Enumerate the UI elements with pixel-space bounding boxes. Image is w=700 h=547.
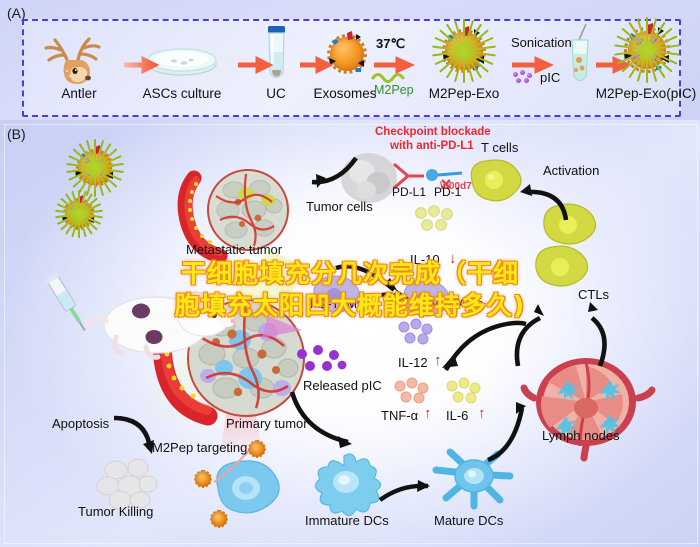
label-apoptosis: Apoptosis [52, 416, 109, 431]
arrow-immature-to-mature-dcs [378, 478, 438, 508]
label-lymph-nodes: Lymph nodes [542, 428, 620, 443]
label-metastatic-tumor: Metastatic tumor [186, 242, 282, 257]
m2pep-peptide-icon [372, 70, 414, 84]
arrow-uc-to-exosomes [300, 58, 330, 72]
arrow-culture-to-uc [238, 58, 270, 72]
m1-tam-cytokine-icon [396, 318, 440, 346]
syringe-icon [46, 268, 94, 338]
exosome-pic-icon [594, 20, 698, 86]
exosome-peptide-icon [414, 22, 514, 86]
il6-up-arrow: ↑ [478, 405, 486, 422]
label-checkpoint-blockade-line1: Checkpoint blockade [375, 126, 491, 138]
label-il-6: IL-6 [446, 408, 468, 423]
arrow-m2-to-m1-polarization [365, 288, 413, 308]
label-immature-dcs: Immature DCs [305, 513, 389, 528]
figure-root: (A) [0, 0, 700, 547]
label-pd-l1: PD-L1 [392, 185, 426, 199]
arrow-to-ctls-left [498, 300, 568, 370]
label-pic: pIC [540, 70, 560, 85]
step-antler: Antler [36, 28, 122, 101]
arrow-to-ctls-right [560, 300, 630, 370]
mouse-icon [86, 275, 246, 371]
label-pd-1: PD-1 [434, 185, 461, 199]
label-mature-dcs: Mature DCs [434, 513, 503, 528]
il12-up-arrow: ↑ [434, 352, 442, 369]
label-tumor-killing: Tumor Killing [78, 504, 153, 519]
label-t-cells: T cells [481, 140, 518, 155]
step-m2pep-exo: M2Pep-Exo [414, 22, 514, 101]
step-m2pep-exo-caption: M2Pep-Exo [414, 86, 514, 101]
arrow-activation [508, 178, 574, 222]
label-m1-tams: M1-TAMs [430, 297, 483, 311]
label-m2-tams: M2-TAMs [310, 297, 363, 311]
label-m2pep: M2Pep [374, 83, 414, 97]
label-m2pep-targeting: M2Pep targeting [152, 440, 247, 455]
panel-b-label: (B) [7, 126, 26, 142]
label-activation: Activation [543, 163, 599, 178]
panel-a: (A) [0, 0, 700, 120]
nanoparticle-icon [208, 508, 230, 530]
nanoparticle-icon [192, 468, 214, 490]
arrow-maturedcs-to-lymphnodes [466, 398, 536, 466]
arrow-tumorcells-to-metastatic [290, 152, 360, 196]
il10-down-arrow: ↓ [449, 250, 457, 267]
label-primary-tumor: Primary tumor [226, 416, 308, 431]
pic-cluster-icon [512, 70, 536, 84]
step-antler-caption: Antler [36, 86, 122, 101]
arrow-antler-to-culture [124, 58, 156, 72]
label-tnf-alpha: TNF-α [381, 408, 418, 423]
nanoparticle-icon [72, 145, 118, 191]
label-il-10: IL-10 [410, 252, 440, 267]
step-uc-caption: UC [244, 86, 308, 101]
label-released-pic: Released pIC [303, 378, 382, 393]
centrifuge-tube-icon [244, 20, 308, 86]
label-temperature: 37℃ [376, 36, 405, 52]
deer-antler-icon [36, 28, 122, 86]
step-ascs-culture-caption: ASCs culture [128, 86, 236, 101]
petri-dish-icon [128, 28, 236, 86]
tnf-up-arrow: ↑ [424, 405, 432, 422]
sonicator-tube-icon [560, 24, 600, 97]
il10-cytokine-icon [413, 205, 459, 235]
label-ctls: CTLs [578, 287, 609, 302]
tnf-alpha-cytokine-icon [392, 378, 434, 406]
label-il-12: IL-12 [398, 355, 428, 370]
nanoparticle-icon [246, 438, 268, 460]
label-checkpoint-blockade-line2: with anti-PD-L1 [390, 140, 474, 152]
label-tumor-cells: Tumor cells [306, 199, 373, 214]
step-m2pep-exo-pic-caption: M2Pep-Exo(pIC) [594, 86, 698, 101]
released-pic-icon [294, 346, 350, 382]
nanoparticle-icon [60, 195, 98, 233]
